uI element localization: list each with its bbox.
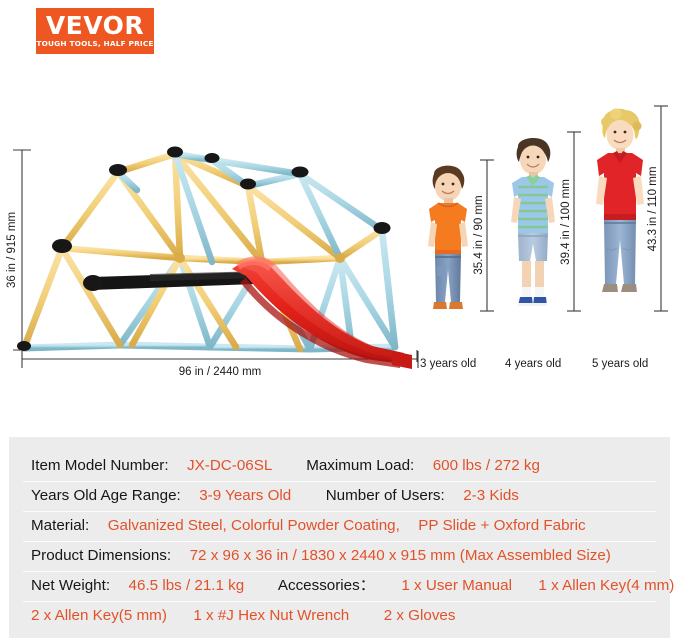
spec-value-accessory-user-manual: 1 x User Manual bbox=[401, 577, 512, 594]
spec-label-accessories: Accessories： bbox=[278, 577, 375, 594]
spec-label-product-dimensions: Product Dimensions: bbox=[31, 547, 171, 564]
spec-value-material-primary: Galvanized Steel, Colorful Powder Coatin… bbox=[108, 517, 400, 534]
logo-wordmark: VEVOR bbox=[46, 13, 144, 38]
child-2-height-label: 39.4 in / 100 mm bbox=[560, 179, 572, 265]
height-dimension-label: 36 in / 915 mm bbox=[6, 212, 18, 288]
spec-label-item-model-number: Item Model Number: bbox=[31, 457, 169, 474]
spec-row-age-and-users: Years Old Age Range: 3-9 Years Old Numbe… bbox=[9, 481, 670, 511]
spec-value-accessory-hex-nut-wrench: 1 x #J Hex Nut Wrench bbox=[193, 607, 349, 624]
spec-row-material: Material: Galvanized Steel, Colorful Pow… bbox=[9, 511, 670, 541]
vevor-logo: VEVOR TOUGH TOOLS, HALF PRICE bbox=[36, 8, 154, 54]
dome-platform-bar bbox=[92, 271, 262, 290]
spec-label-age-range: Years Old Age Range: bbox=[31, 487, 181, 504]
spec-value-net-weight: 46.5 lbs / 21.1 kg bbox=[129, 577, 245, 594]
child-2-age-label: 4 years old bbox=[505, 358, 561, 370]
child-1-height-label: 35.4 in / 90 mm bbox=[473, 195, 485, 274]
climbing-dome-frame bbox=[17, 147, 395, 352]
spec-label-number-of-users: Number of Users: bbox=[326, 487, 445, 504]
spec-value-accessory-allen-key-5mm: 2 x Allen Key(5 mm) bbox=[31, 607, 167, 624]
spec-value-accessory-allen-key-4mm: 1 x Allen Key(4 mm) bbox=[538, 577, 674, 594]
product-dimension-diagram: 36 in / 915 mm 96 in / 2440 mm bbox=[0, 62, 679, 430]
child-figure-4-years bbox=[511, 138, 555, 306]
width-dimension-label: 96 in / 2440 mm bbox=[179, 366, 261, 378]
spec-value-product-dimensions: 72 x 96 x 36 in / 1830 x 2440 x 915 mm (… bbox=[190, 547, 611, 564]
logo-tagline: TOUGH TOOLS, HALF PRICE bbox=[36, 39, 153, 49]
spec-row-model-and-load: Item Model Number: JX-DC-06SL Maximum Lo… bbox=[9, 451, 670, 481]
child-3-height-label: 43.3 in / 110 mm bbox=[647, 167, 659, 252]
spec-row-weight-and-accessories: Net Weight: 46.5 lbs / 21.1 kg Accessori… bbox=[9, 571, 670, 601]
spec-label-net-weight: Net Weight: bbox=[31, 577, 110, 594]
spec-value-material-secondary: PP Slide + Oxford Fabric bbox=[418, 517, 585, 534]
spec-value-accessory-gloves: 2 x Gloves bbox=[384, 607, 456, 624]
spec-row-product-dimensions: Product Dimensions: 72 x 96 x 36 in / 18… bbox=[9, 541, 670, 571]
child-figure-5-years bbox=[596, 109, 644, 293]
spec-value-age-range: 3-9 Years Old bbox=[199, 487, 291, 504]
spec-value-item-model-number: JX-DC-06SL bbox=[187, 457, 272, 474]
spec-value-number-of-users: 2-3 Kids bbox=[463, 487, 519, 504]
spec-label-material: Material: bbox=[31, 517, 89, 534]
child-3-age-label: 5 years old bbox=[592, 358, 648, 370]
spec-row-accessories-continued: 2 x Allen Key(5 mm) 1 x #J Hex Nut Wrenc… bbox=[9, 601, 670, 631]
specification-panel: Item Model Number: JX-DC-06SL Maximum Lo… bbox=[9, 437, 670, 638]
child-1-age-label: 3 years old bbox=[420, 358, 476, 370]
spec-value-maximum-load: 600 lbs / 272 kg bbox=[433, 457, 540, 474]
child-figure-3-years bbox=[428, 166, 468, 309]
spec-label-maximum-load: Maximum Load: bbox=[306, 457, 414, 474]
